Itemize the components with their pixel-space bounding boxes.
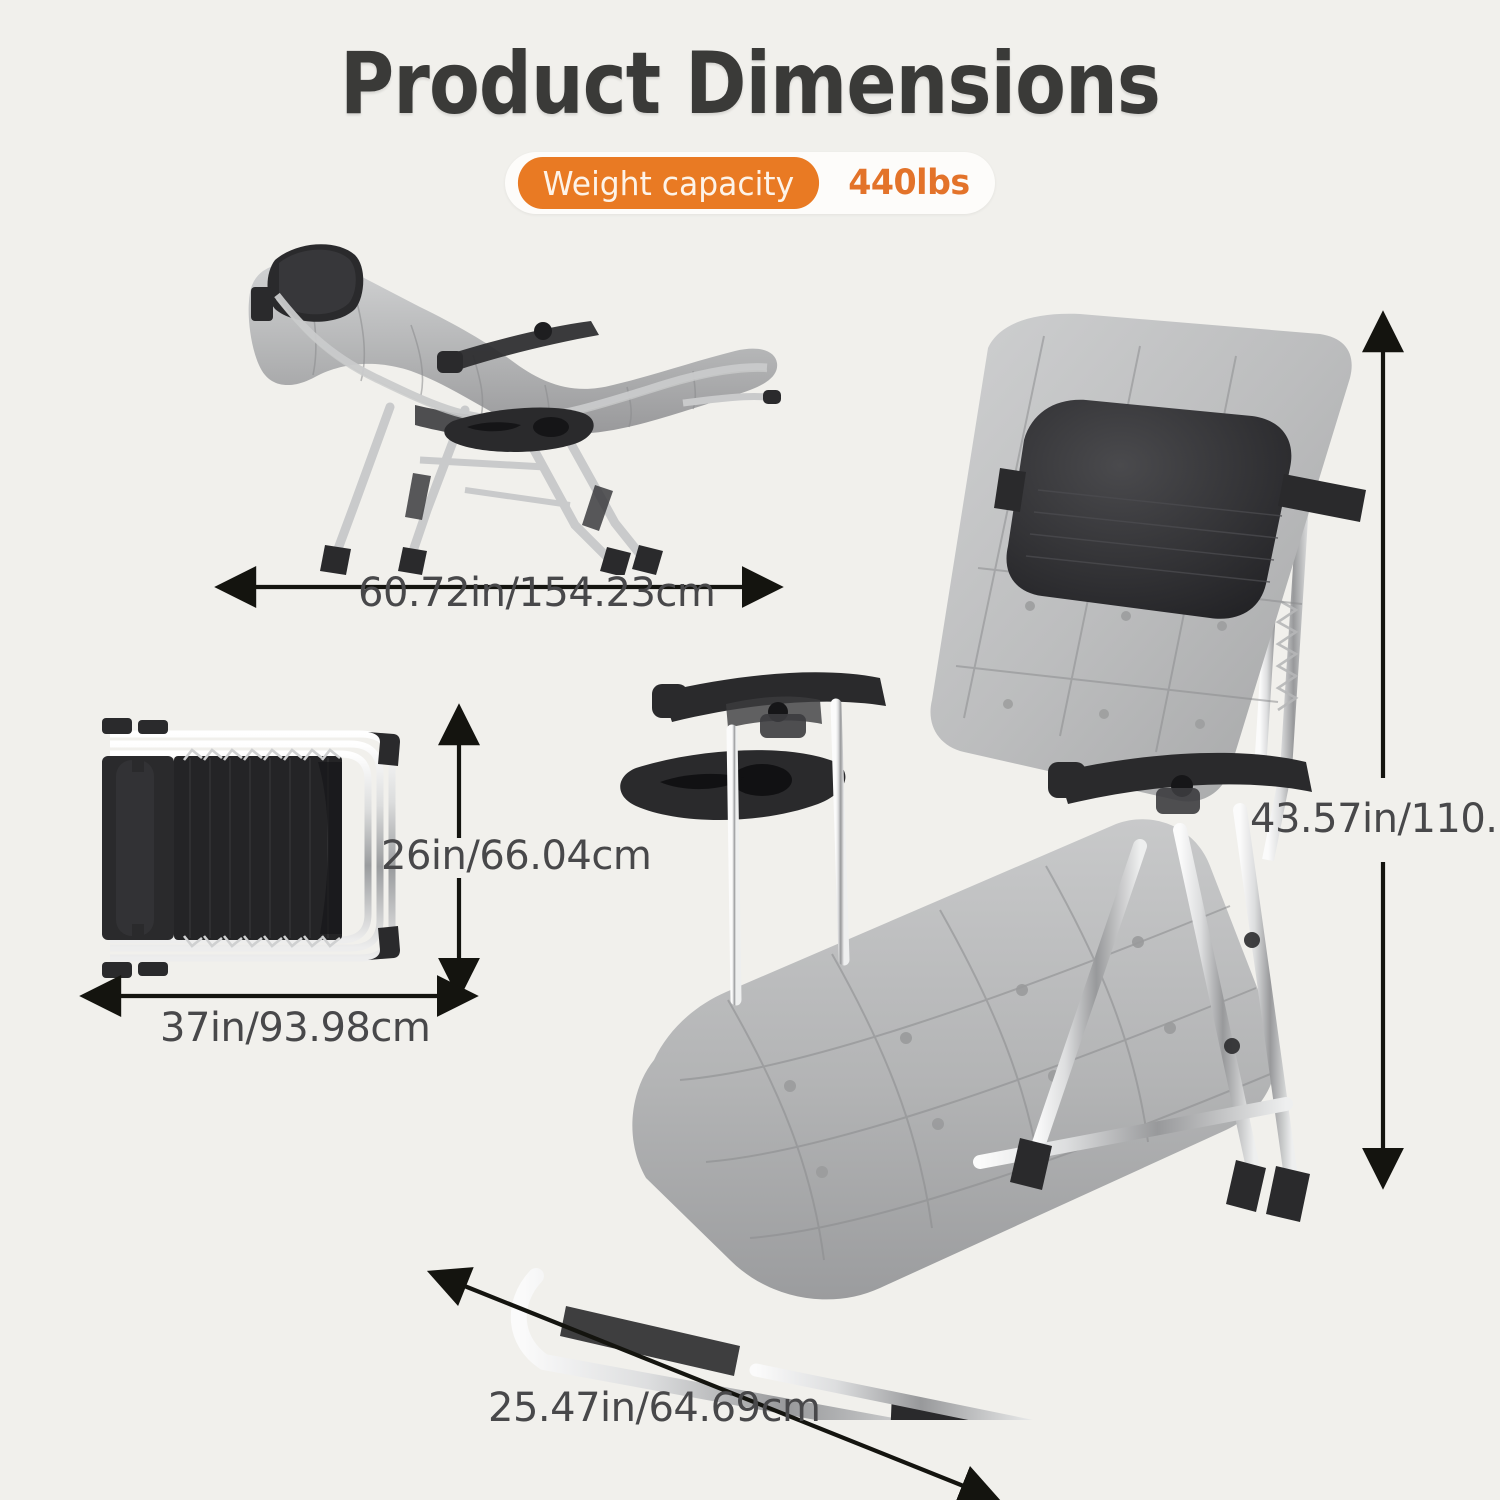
dimension-arrow-overlay xyxy=(0,0,1500,1500)
dimension-label-reclined-length: 60.72in/154.23cm xyxy=(358,570,715,616)
dimension-label-chair-height: 43.57in/110.67cm xyxy=(1250,796,1500,842)
infographic-canvas: Product Dimensions Weight capacity 440lb… xyxy=(0,0,1500,1500)
dimension-label-seat-depth: 25.47in/64.69cm xyxy=(488,1385,820,1431)
dimension-label-folded-width: 37in/93.98cm xyxy=(160,1005,430,1051)
dimension-label-folded-height: 26in/66.04cm xyxy=(381,833,651,879)
